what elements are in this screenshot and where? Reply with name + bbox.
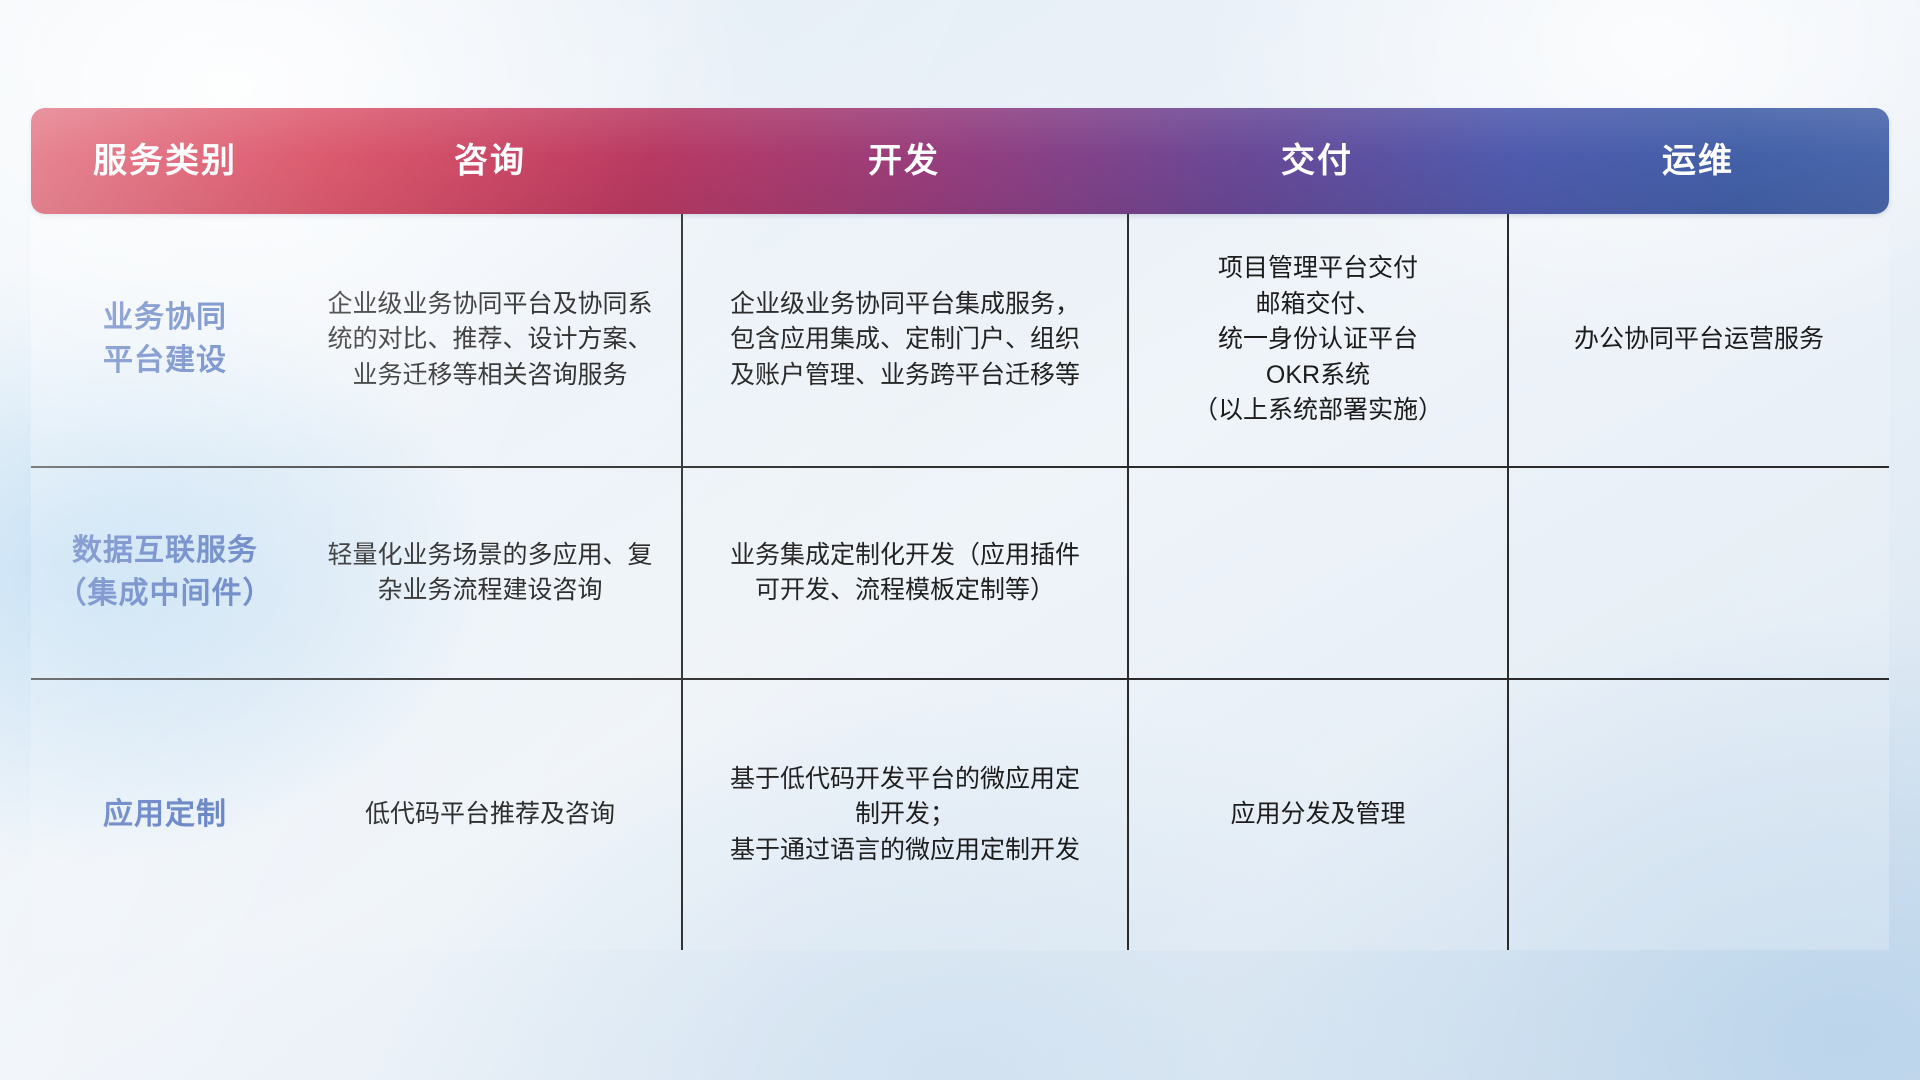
cell-r3-delivery: 应用分发及管理 <box>1127 678 1507 950</box>
service-category-table: 服务类别 咨询 开发 交付 运维 业务协同 平台建设 企业级业务协同平台及协同系… <box>31 108 1889 950</box>
cell-r2-delivery <box>1127 466 1507 678</box>
cell-r1-delivery: 项目管理平台交付 邮箱交付、 统一身份认证平台 OKR系统 （以上系统部署实施） <box>1127 214 1507 466</box>
row-label-business-collaboration: 业务协同 平台建设 <box>31 214 299 466</box>
table-body: 业务协同 平台建设 企业级业务协同平台及协同系 统的对比、推荐、设计方案、 业务… <box>31 214 1889 950</box>
cell-r3-development: 基于低代码开发平台的微应用定 制开发； 基于通过语言的微应用定制开发 <box>681 678 1127 950</box>
cell-r1-operations: 办公协同平台运营服务 <box>1507 214 1889 466</box>
table-header-row: 服务类别 咨询 开发 交付 运维 <box>31 108 1889 214</box>
column-header-consulting: 咨询 <box>299 144 681 178</box>
row-label-data-interconnect: 数据互联服务 （集成中间件） <box>31 466 299 678</box>
row-label-app-customization: 应用定制 <box>31 678 299 950</box>
table-row: 应用定制 低代码平台推荐及咨询 基于低代码开发平台的微应用定 制开发； 基于通过… <box>31 678 1889 950</box>
cell-r1-consulting: 企业级业务协同平台及协同系 统的对比、推荐、设计方案、 业务迁移等相关咨询服务 <box>299 214 681 466</box>
cell-r1-development: 企业级业务协同平台集成服务， 包含应用集成、定制门户、组织 及账户管理、业务跨平… <box>681 214 1127 466</box>
table-row: 业务协同 平台建设 企业级业务协同平台及协同系 统的对比、推荐、设计方案、 业务… <box>31 214 1889 466</box>
column-header-development: 开发 <box>681 144 1127 178</box>
page-background: 服务类别 咨询 开发 交付 运维 业务协同 平台建设 企业级业务协同平台及协同系… <box>0 0 1920 1080</box>
column-header-operations: 运维 <box>1507 144 1889 178</box>
cell-r2-development: 业务集成定制化开发（应用插件 可开发、流程模板定制等） <box>681 466 1127 678</box>
column-header-category: 服务类别 <box>31 144 299 178</box>
table-row: 数据互联服务 （集成中间件） 轻量化业务场景的多应用、复 杂业务流程建设咨询 业… <box>31 466 1889 678</box>
cell-r3-consulting: 低代码平台推荐及咨询 <box>299 678 681 950</box>
cell-r2-operations <box>1507 466 1889 678</box>
cell-r2-consulting: 轻量化业务场景的多应用、复 杂业务流程建设咨询 <box>299 466 681 678</box>
cell-r3-operations <box>1507 678 1889 950</box>
column-header-delivery: 交付 <box>1127 144 1507 178</box>
